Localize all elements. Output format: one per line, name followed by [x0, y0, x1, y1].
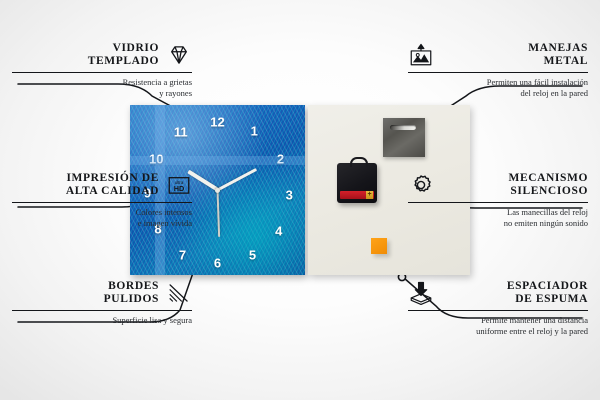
feature-glass-title: VIDRIO TEMPLADO: [88, 42, 159, 68]
polished-edge-icon: [166, 280, 192, 306]
feature-print-title: IMPRESIÓN DE ALTA CALIDAD: [66, 172, 159, 198]
feature-glass-rule: [12, 72, 192, 73]
hanger-keyhole-slot: [390, 125, 416, 130]
clock-numeral: 11: [174, 126, 188, 139]
clock-numeral: 1: [251, 124, 258, 137]
ultra-hd-icon: ultra HD: [166, 172, 192, 198]
metal-hanger: [383, 118, 425, 157]
battery-plus-marker: +: [366, 191, 373, 199]
feature-spacer: ESPACIADOR DE ESPUMA Permite mantener un…: [408, 280, 588, 337]
clock-numeral: 5: [249, 248, 256, 261]
clock-numeral: 6: [214, 257, 221, 270]
clock-numeral: 2: [277, 153, 284, 166]
feature-print-rule: [12, 202, 192, 203]
clock-numeral: 3: [286, 189, 293, 202]
feature-hangers-subtitle: Permiten una fácil instalación del reloj…: [408, 77, 588, 99]
feature-mechanism-title: MECANISMO SILENCIOSO: [441, 172, 588, 198]
infographic-canvas: 12 1 2 3 4 5 6 7 8 9 10 11 +: [0, 0, 600, 400]
feature-mechanism: MECANISMO SILENCIOSO Las manecillas del …: [408, 172, 588, 229]
feature-spacer-title: ESPACIADOR DE ESPUMA: [441, 280, 588, 306]
feature-edges-rule: [12, 310, 192, 311]
mechanism-hanging-loop: [350, 157, 368, 167]
foam-spacer-icon: [408, 280, 434, 306]
clock-center-cap: [215, 188, 220, 193]
clock-second-hand: [217, 190, 220, 237]
foam-spacer-pad: [371, 238, 387, 254]
feature-print-subtitle: Colores intensos e imagen vívida: [12, 207, 192, 229]
feature-glass: VIDRIO TEMPLADO Resistencia a grietas y …: [12, 42, 192, 99]
gear-icon: [408, 172, 434, 198]
feature-edges-subtitle: Superficie lisa y segura: [12, 315, 192, 326]
picture-hanger-icon: [408, 42, 434, 68]
feature-hangers-rule: [408, 72, 588, 73]
diamond-icon: [166, 42, 192, 68]
clock-numeral: 4: [275, 224, 282, 237]
battery-compartment-label: +: [340, 191, 374, 199]
clock-minute-hand: [217, 168, 257, 191]
svg-text:HD: HD: [174, 184, 185, 193]
feature-glass-subtitle: Resistencia a grietas y rayones: [12, 77, 192, 99]
feature-hangers-title: MANEJAS METAL: [441, 42, 588, 68]
clock-numeral: 7: [179, 248, 186, 261]
feature-spacer-rule: [408, 310, 588, 311]
clock-numeral: 10: [149, 153, 163, 166]
feature-mechanism-rule: [408, 202, 588, 203]
clock-mechanism-box: +: [337, 163, 377, 203]
feature-edges-title: BORDES PULIDOS: [104, 280, 159, 306]
clock-numeral: 12: [210, 116, 224, 129]
feature-mechanism-subtitle: Las manecillas del reloj no emiten ningú…: [408, 207, 588, 229]
feature-print: IMPRESIÓN DE ALTA CALIDAD ultra HD Color…: [12, 172, 192, 229]
feature-spacer-subtitle: Permite mantener una distancia uniforme …: [408, 315, 588, 337]
feature-hangers: MANEJAS METAL Permiten una fácil instala…: [408, 42, 588, 99]
feature-edges: BORDES PULIDOS Superficie lisa y segura: [12, 280, 192, 326]
